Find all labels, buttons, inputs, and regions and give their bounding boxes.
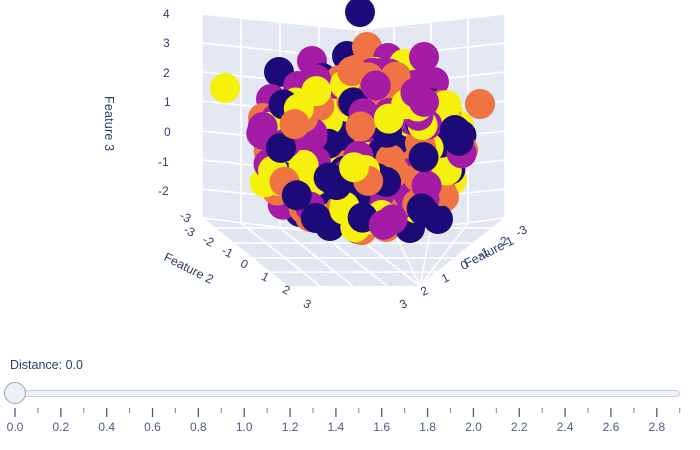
- scatter-point[interactable]: [444, 126, 474, 156]
- slider-tick-label: 2.6: [603, 420, 620, 434]
- slider-tick-label: 1.8: [419, 420, 436, 434]
- slider-tick-label: 1.6: [373, 420, 390, 434]
- z-tick-3: 3: [163, 36, 170, 50]
- scatter-point[interactable]: [346, 111, 376, 141]
- distance-slider[interactable]: [0, 382, 700, 404]
- slider-tick-label: 0.6: [144, 420, 161, 434]
- slider-tick-label: 1.0: [236, 420, 253, 434]
- slider-tick-label: 2.0: [465, 420, 482, 434]
- scatter-point[interactable]: [210, 73, 240, 103]
- scatter-point[interactable]: [345, 0, 375, 27]
- scatter-point[interactable]: [282, 180, 312, 210]
- scatter-point[interactable]: [409, 142, 439, 172]
- slider-tick-label: 2.2: [511, 420, 528, 434]
- scatter3d-canvas[interactable]: [0, 0, 700, 345]
- slider-tick-label: 0.0: [7, 420, 24, 434]
- distance-slider-label: Distance: 0.0: [10, 358, 83, 372]
- z-tick-1: 1: [164, 95, 171, 109]
- scatter-point[interactable]: [378, 204, 408, 234]
- app-root: 4 3 2 1 0 -1 -2 -3 -3 -2 -1 0 1 2 3 3 2 …: [0, 0, 700, 450]
- slider-tick-label: 0.4: [98, 420, 115, 434]
- distance-slider-block[interactable]: Distance: 0.0 0.00.20.40.60.81.01.21.41.…: [0, 358, 700, 450]
- z-tick-m1: -1: [158, 155, 169, 169]
- z-tick-m2: -2: [158, 184, 169, 198]
- slider-tick-label: 2.4: [557, 420, 574, 434]
- scatter3d-figure[interactable]: 4 3 2 1 0 -1 -2 -3 -3 -2 -1 0 1 2 3 3 2 …: [0, 0, 700, 345]
- z-tick-0: 0: [164, 125, 171, 139]
- scatter-point[interactable]: [409, 87, 439, 117]
- scatter-point[interactable]: [339, 152, 369, 182]
- scatter-point[interactable]: [465, 89, 495, 119]
- z-axis-title: Feature 3: [102, 96, 116, 151]
- slider-tick-label: 1.2: [282, 420, 299, 434]
- slider-track[interactable]: [18, 390, 680, 397]
- slider-tick-label: 1.4: [328, 420, 345, 434]
- z-tick-2: 2: [163, 66, 170, 80]
- slider-tick-label: 2.8: [648, 420, 665, 434]
- slider-tick-label: 0.2: [52, 420, 69, 434]
- scatter-point[interactable]: [407, 194, 437, 224]
- slider-handle[interactable]: [4, 382, 26, 404]
- scatter-point[interactable]: [361, 71, 391, 101]
- slider-tick-label: 0.8: [190, 420, 207, 434]
- z-tick-4: 4: [163, 7, 170, 21]
- scatter-point[interactable]: [280, 109, 310, 139]
- scatter-point[interactable]: [374, 104, 404, 134]
- scatter-point[interactable]: [301, 76, 331, 106]
